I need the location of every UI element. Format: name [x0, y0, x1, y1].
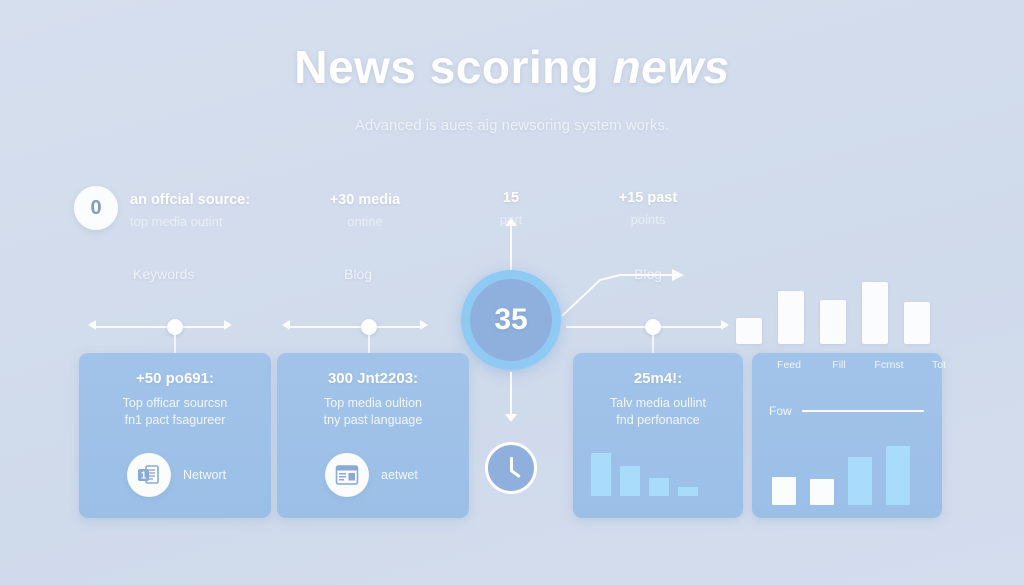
mini-bar: [649, 478, 669, 496]
timeline-arrow-right-1: [224, 320, 232, 330]
card-icon-caption: aetwet: [381, 468, 418, 482]
score-gauge: 35: [461, 270, 561, 370]
inner-bar: [848, 457, 872, 505]
document-icon: 1: [127, 453, 171, 497]
stat-headline: +15 past: [588, 190, 708, 206]
mini-bar: [620, 466, 640, 496]
bar-label: Feed: [774, 359, 804, 371]
stat-past-points: +15 past points: [588, 190, 708, 227]
stat-headline: an offcial source:: [130, 192, 250, 208]
right-panel-inner-bars: [772, 443, 927, 505]
page-subtitle: Advanced is aues aig newsoring system wo…: [0, 117, 1024, 134]
right-panel-row-line: [802, 410, 924, 412]
panel-bar: [904, 302, 930, 344]
card-official-source[interactable]: +50 po691: Top officar sourcsn fn1 pact …: [79, 353, 271, 518]
title-main: News scoring: [294, 41, 612, 93]
timeline-segment-2: [290, 326, 420, 328]
bar-label: Fcrnst: [874, 359, 904, 371]
card-desc-line2: tny past language: [277, 412, 469, 429]
card-icon-caption: Networt: [183, 468, 226, 482]
right-panel-row-label: Fow: [769, 404, 792, 418]
stat-media-online: +30 media ontine: [300, 192, 430, 229]
panel-bar: [862, 282, 888, 344]
right-panel-bars: [736, 284, 936, 344]
mid-label-blog-left: Blog: [344, 266, 372, 282]
card-performance[interactable]: 25m4!: Talv media oullint fnd perfonance: [573, 353, 743, 518]
timeline-arrow-left-2: [282, 320, 290, 330]
mid-label-keywords: Keywords: [133, 266, 194, 282]
timeline-arrow-left-1: [88, 320, 96, 330]
mini-bar: [591, 453, 611, 496]
blog-connector-arrow: [560, 258, 700, 318]
score-badge-zero: 0: [74, 186, 118, 230]
panel-bar: [820, 300, 846, 344]
title-italic: news: [613, 41, 730, 93]
inner-bar: [772, 477, 796, 505]
card-description: Talv media oullint fnd perfonance: [573, 395, 743, 429]
card-title: 25m4!:: [573, 370, 743, 387]
card-desc-line1: Talv media oullint: [573, 395, 743, 412]
gauge-stem-down: [510, 372, 512, 418]
mini-bar: [678, 487, 698, 496]
right-panel-bar-labels: Feed Fill Fcrnst Tot: [774, 359, 954, 371]
score-gauge-inner: 35: [470, 279, 552, 361]
bar-chart-icon: [591, 448, 698, 496]
card-description: Top media oultion tny past language: [277, 395, 469, 429]
newspaper-icon: [325, 453, 369, 497]
bar-label: Fill: [824, 359, 854, 371]
panel-bar: [778, 291, 804, 344]
stat-sub: points: [588, 212, 708, 227]
svg-text:1: 1: [141, 471, 147, 482]
stat-sub: ontine: [300, 214, 430, 229]
gauge-arrow-down-icon: [505, 414, 517, 422]
card-description: Top officar sourcsn fn1 pact fsagureer: [79, 395, 271, 429]
card-desc-line1: Top officar sourcsn: [79, 395, 271, 412]
card-desc-line2: fn1 pact fsagureer: [79, 412, 271, 429]
stat-sub: top media outint: [130, 214, 250, 229]
card-desc-line1: Top media oultion: [277, 395, 469, 412]
gauge-stem-up: [510, 222, 512, 272]
card-title: +50 po691:: [79, 370, 271, 387]
stat-headline: +30 media: [300, 192, 430, 208]
timeline-segment-3: [566, 326, 721, 328]
card-right-panel[interactable]: Feed Fill Fcrnst Tot Fow: [752, 353, 942, 518]
stat-headline: 15: [463, 190, 559, 206]
card-media-outlet[interactable]: 300 Jnt2203: Top media oultion tny past …: [277, 353, 469, 518]
inner-bar: [886, 446, 910, 505]
clock-icon: [485, 442, 537, 494]
stat-official-source: an offcial source: top media outint: [130, 192, 250, 229]
bar-label: Tot: [924, 359, 954, 371]
timeline-segment-1: [96, 326, 224, 328]
timeline-arrow-right-3: [721, 320, 729, 330]
panel-bar: [736, 318, 762, 344]
infographic-canvas: News scoring news Advanced is aues aig n…: [0, 0, 1024, 585]
score-gauge-value: 35: [494, 303, 527, 337]
inner-bar: [810, 479, 834, 505]
page-title: News scoring news: [0, 40, 1024, 94]
card-title: 300 Jnt2203:: [277, 370, 469, 387]
card-desc-line2: fnd perfonance: [573, 412, 743, 429]
clock-minute-hand: [510, 469, 520, 477]
timeline-arrow-right-2: [420, 320, 428, 330]
